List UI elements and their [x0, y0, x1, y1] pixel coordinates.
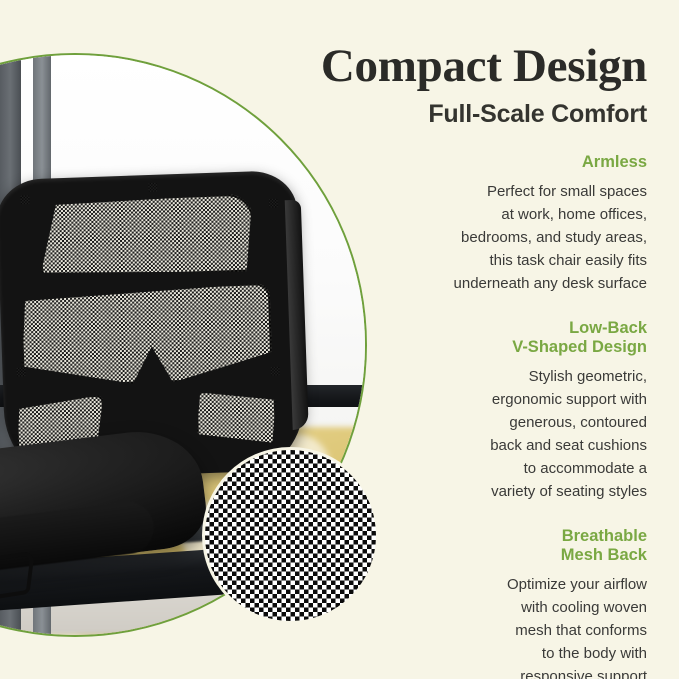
feature-body-line: responsive support — [317, 665, 647, 679]
feature-title-line: Low-Back — [317, 319, 647, 338]
page-subtitle: Full-Scale Comfort — [317, 100, 647, 129]
feature-body-line: bedrooms, and study areas, — [317, 226, 647, 249]
feature-body-line: to the body with — [317, 642, 647, 665]
feature-block-low-back-v-shaped: Low-Back V-Shaped Design Stylish geometr… — [317, 319, 647, 503]
feature-title-line: Armless — [317, 153, 647, 172]
feature-body-line: generous, contoured — [317, 411, 647, 434]
feature-body-line: Stylish geometric, — [317, 365, 647, 388]
shell-rivet — [148, 183, 157, 192]
feature-body-line: this task chair easily fits — [317, 249, 647, 272]
chair-tilt-mechanism — [0, 550, 35, 613]
feature-block-breathable-mesh-back: Breathable Mesh Back Optimize your airfl… — [317, 527, 647, 679]
feature-body-line: at work, home offices, — [317, 203, 647, 226]
copy-column: Compact Design Full-Scale Comfort Armles… — [317, 40, 647, 679]
shell-rivet — [269, 199, 278, 208]
feature-title-line: Breathable — [317, 527, 647, 546]
feature-body-line: variety of seating styles — [317, 480, 647, 503]
feature-body-line: mesh that conforms — [317, 619, 647, 642]
feature-title: Armless — [317, 153, 647, 172]
feature-body-line: Optimize your airflow — [317, 573, 647, 596]
mesh-panel-lower-right — [195, 389, 277, 448]
shell-rivet — [271, 367, 280, 376]
feature-title: Breathable Mesh Back — [317, 527, 647, 565]
feature-title-line: Mesh Back — [317, 546, 647, 565]
feature-body: Stylish geometric, ergonomic support wit… — [317, 365, 647, 503]
feature-body-line: underneath any desk surface — [317, 272, 647, 295]
shell-rivet — [20, 195, 29, 204]
feature-title: Low-Back V-Shaped Design — [317, 319, 647, 357]
page-title: Compact Design — [317, 40, 647, 92]
feature-body-line: Perfect for small spaces — [317, 180, 647, 203]
mesh-panel-top — [39, 193, 256, 278]
product-feature-graphic: Compact Design Full-Scale Comfort Armles… — [0, 0, 679, 679]
shell-rivet — [16, 367, 25, 376]
feature-body-line: to accommodate a — [317, 457, 647, 480]
feature-block-armless: Armless Perfect for small spaces at work… — [317, 153, 647, 295]
feature-body-line: with cooling woven — [317, 596, 647, 619]
feature-body-line: back and seat cushions — [317, 434, 647, 457]
feature-body: Optimize your airflow with cooling woven… — [317, 573, 647, 679]
feature-body-line: ergonomic support with — [317, 388, 647, 411]
mesh-panel-middle — [20, 283, 273, 388]
feature-body: Perfect for small spaces at work, home o… — [317, 180, 647, 295]
feature-title-line: V-Shaped Design — [317, 338, 647, 357]
